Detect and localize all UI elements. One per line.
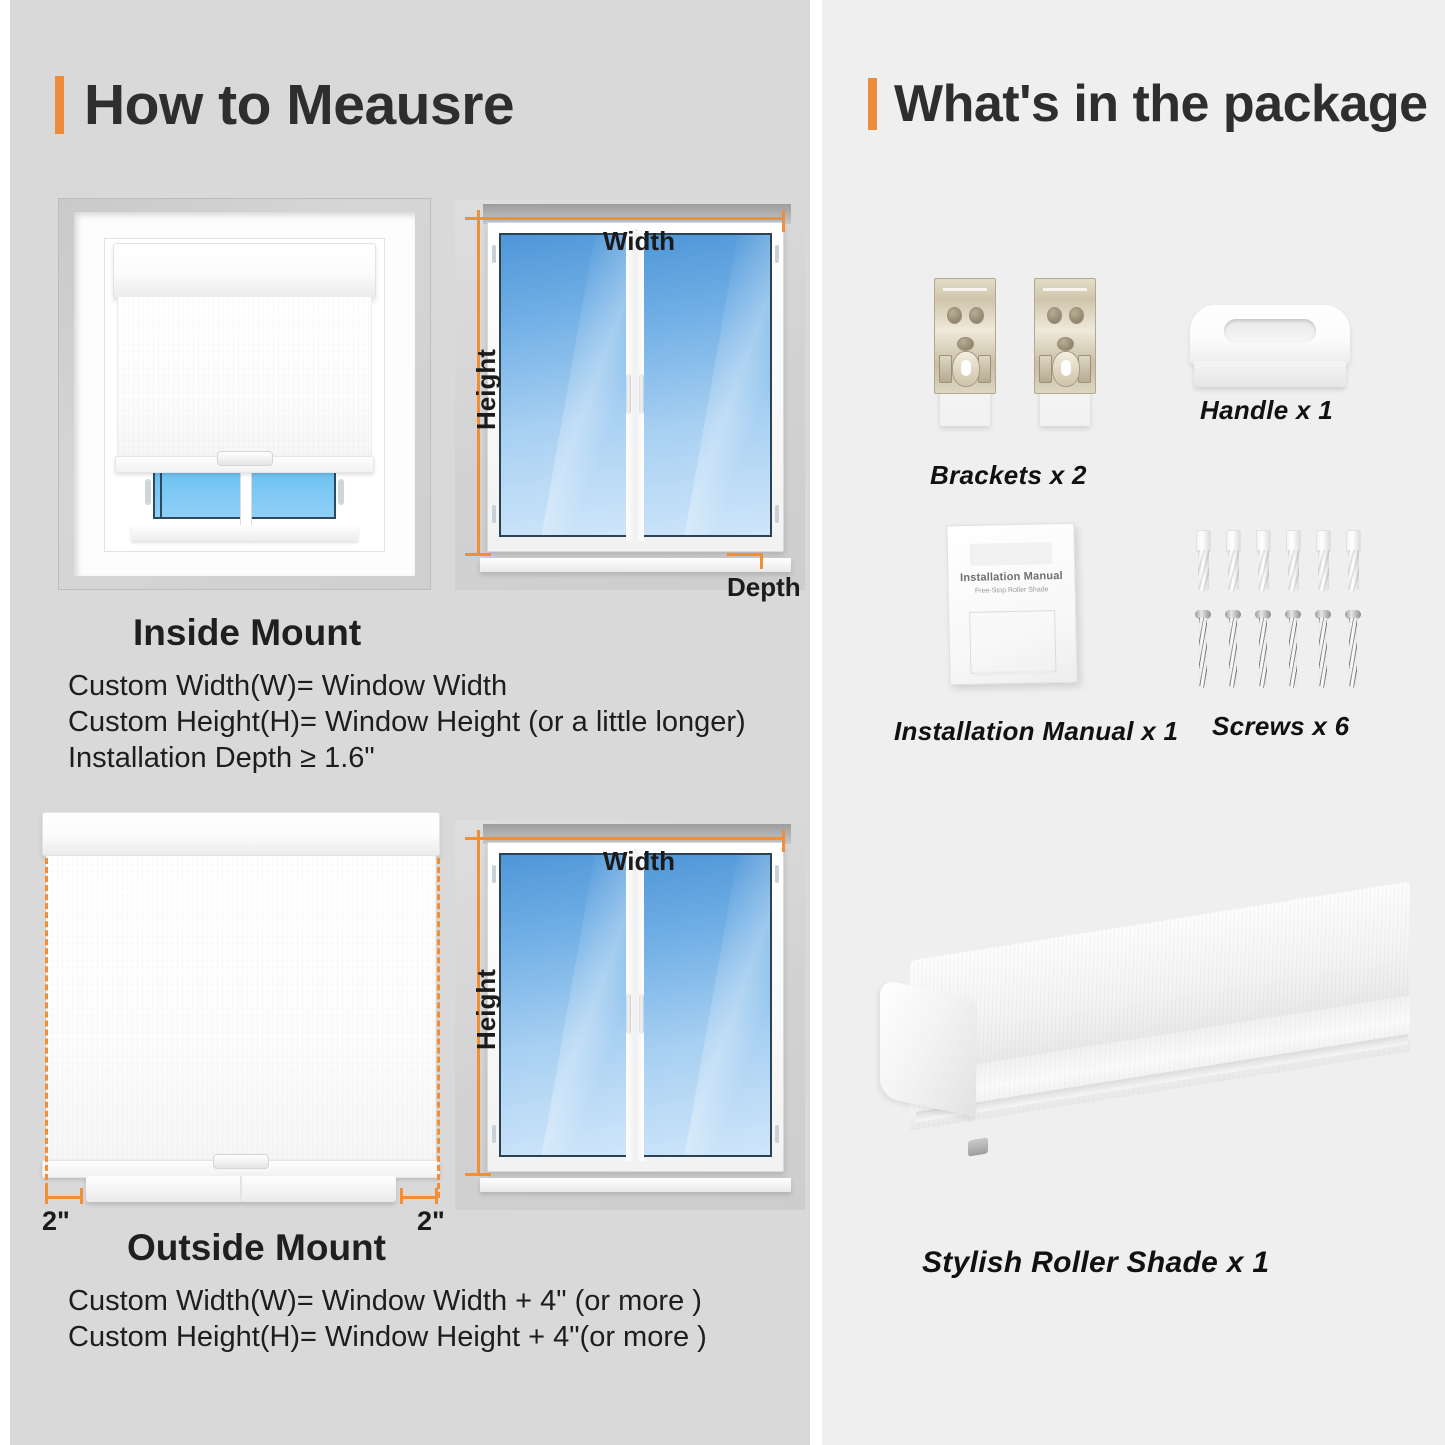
manual-cover-footer bbox=[974, 670, 1052, 676]
window-handle-right-icon bbox=[338, 479, 344, 505]
overhang-arrow-left bbox=[45, 1196, 83, 1199]
shade-bottom-rail bbox=[115, 456, 374, 473]
window-reveal bbox=[74, 212, 415, 576]
page-title-whats-in-package: What's in the package bbox=[868, 74, 1428, 134]
shade-cassette bbox=[113, 243, 376, 299]
wall-anchor-2-head bbox=[1226, 530, 1241, 552]
diagram2-glass-right bbox=[641, 853, 772, 1157]
outside-shade-fabric bbox=[46, 856, 436, 1166]
outside-shade-cassette bbox=[42, 812, 440, 856]
manual-cover-figure bbox=[969, 610, 1056, 674]
overhang-guide-right bbox=[437, 858, 440, 1198]
diagram2-header-lintel bbox=[483, 824, 791, 844]
brackets-label: Brackets x 2 bbox=[930, 460, 1087, 491]
diagram2-hinge-top-left-icon bbox=[492, 865, 496, 883]
overhang-label-right: 2" bbox=[417, 1206, 445, 1237]
height-measure-cap-top bbox=[465, 217, 491, 220]
bracket-1-slot-left bbox=[939, 355, 952, 383]
inside-mount-line-3: Installation Depth ≥ 1.6" bbox=[68, 742, 375, 775]
manual-cover-subtitle: Free-Stop Roller Shade bbox=[949, 586, 1075, 596]
screw-6-shaft bbox=[1349, 618, 1357, 688]
infographic-page: How to Meausre bbox=[0, 0, 1445, 1445]
screw-1 bbox=[1195, 610, 1211, 688]
bracket-2-hole-b bbox=[1069, 307, 1084, 324]
wall-anchor-1-body bbox=[1198, 550, 1209, 592]
bracket-1-pin-oval bbox=[952, 351, 980, 387]
outside-mount-shade-illustration bbox=[42, 812, 440, 1204]
manual-cover-title: Installation Manual bbox=[948, 570, 1074, 585]
installation-manual-label: Installation Manual x 1 bbox=[894, 716, 1178, 747]
left-edge-strip bbox=[0, 0, 10, 1445]
overhang-cap-right-inner bbox=[400, 1188, 403, 1204]
height2-measure-cap-top bbox=[465, 837, 491, 840]
overhang-guide-left bbox=[45, 858, 48, 1198]
height-measure-cap-bottom bbox=[465, 553, 491, 556]
width-measure-line bbox=[477, 217, 785, 220]
how-to-measure-panel: How to Meausre bbox=[0, 0, 810, 1445]
diagram-hinge-bottom-right-icon bbox=[775, 505, 779, 523]
wall-anchor-6 bbox=[1344, 530, 1363, 592]
bracket-1-hole-a bbox=[947, 307, 962, 324]
screw-2 bbox=[1225, 610, 1241, 688]
roller-shade-end-pin bbox=[968, 1137, 988, 1156]
window-frame bbox=[104, 238, 385, 552]
screw-5 bbox=[1315, 610, 1331, 688]
outside-mount-title: Outside Mount bbox=[127, 1227, 386, 1269]
manual-header-band bbox=[970, 542, 1052, 566]
handle-foot bbox=[1194, 361, 1346, 387]
depth-measure-cap bbox=[727, 553, 763, 556]
wall-anchor-5 bbox=[1314, 530, 1333, 592]
roller-shade-tube bbox=[880, 895, 1400, 1195]
width2-measure-cap-right bbox=[782, 830, 785, 852]
diagram2-sill bbox=[480, 1178, 792, 1192]
screw-5-shaft bbox=[1319, 618, 1327, 688]
roller-shade-end-cap bbox=[880, 979, 976, 1117]
overhang-cap-right-outer bbox=[435, 1188, 438, 1204]
accent-bar-icon bbox=[55, 76, 64, 134]
outside-shade-pull-handle-icon bbox=[213, 1154, 269, 1169]
wall-anchor-6-body bbox=[1348, 550, 1359, 592]
wall-anchor-4-body bbox=[1288, 550, 1299, 592]
screw-4 bbox=[1285, 610, 1301, 688]
handle-grip-slot bbox=[1224, 319, 1316, 343]
roller-shade-label: Stylish Roller Shade x 1 bbox=[922, 1246, 1269, 1280]
bracket-2-pin-oval bbox=[1052, 351, 1080, 387]
overhang-label-left: 2" bbox=[42, 1206, 70, 1237]
diagram-sill bbox=[480, 558, 792, 572]
overhang-arrow-right bbox=[400, 1196, 438, 1199]
screws-label: Screws x 6 bbox=[1212, 711, 1349, 742]
outside-mount-measure-diagram: Width Height bbox=[455, 820, 805, 1210]
screw-4-shaft bbox=[1289, 618, 1297, 688]
shade-fabric bbox=[117, 297, 372, 459]
heading-text-right: What's in the package bbox=[894, 74, 1428, 134]
wall-anchor-4-head bbox=[1286, 530, 1301, 552]
outside-mount-line-2: Custom Height(H)= Window Height + 4"(or … bbox=[68, 1321, 707, 1354]
wall-anchor-4 bbox=[1284, 530, 1303, 592]
diagram2-glass-left bbox=[499, 853, 630, 1157]
diagram-hinge-top-left-icon bbox=[492, 245, 496, 263]
bracket-2-metal-body bbox=[1034, 278, 1096, 394]
heading-text: How to Meausre bbox=[84, 72, 514, 138]
width2-measure-line bbox=[477, 837, 785, 840]
window-handle-left-icon bbox=[145, 479, 151, 505]
page-title-how-to-measure: How to Meausre bbox=[55, 72, 514, 138]
diagram-window-frame bbox=[487, 222, 785, 552]
handle-body bbox=[1190, 305, 1350, 365]
bracket-item-1 bbox=[934, 278, 996, 426]
height2-measure-cap-bottom bbox=[465, 1173, 491, 1176]
bracket-1-hole-c bbox=[957, 337, 974, 351]
shade-pull-handle-icon bbox=[217, 451, 273, 466]
inside-mount-measure-diagram: Width Height Depth bbox=[455, 200, 805, 590]
width-label: Width bbox=[603, 226, 675, 257]
inside-mount-shade-illustration bbox=[58, 198, 431, 590]
wall-anchor-2-body bbox=[1228, 550, 1239, 592]
width2-label: Width bbox=[603, 846, 675, 877]
bracket-2-hole-c bbox=[1057, 337, 1074, 351]
diagram-hinge-bottom-left-icon bbox=[492, 505, 496, 523]
inside-mount-title: Inside Mount bbox=[133, 612, 361, 654]
outside-sill-divider bbox=[240, 1176, 242, 1202]
wall-anchor-1 bbox=[1194, 530, 1213, 592]
package-contents-panel: What's in the package bbox=[822, 0, 1445, 1445]
diagram2-hinge-bottom-left-icon bbox=[492, 1125, 496, 1143]
diagram2-hinge-top-right-icon bbox=[775, 865, 779, 883]
height2-label: Height bbox=[471, 969, 502, 1050]
handle-item bbox=[1190, 305, 1350, 389]
handle-label: Handle x 1 bbox=[1200, 395, 1333, 426]
installation-manual-item: Installation Manual Free-Stop Roller Sha… bbox=[946, 523, 1077, 686]
window-sill bbox=[131, 525, 358, 541]
diagram-glass-right bbox=[641, 233, 772, 537]
accent-bar-icon-right bbox=[868, 78, 877, 130]
wall-anchor-6-head bbox=[1346, 530, 1361, 552]
screw-3-shaft bbox=[1259, 618, 1267, 688]
screw-3 bbox=[1255, 610, 1271, 688]
width-measure-cap-right bbox=[782, 210, 785, 232]
bracket-2-slot-left bbox=[1039, 355, 1052, 383]
wall-anchor-5-body bbox=[1318, 550, 1329, 592]
height-label: Height bbox=[471, 349, 502, 430]
bracket-1-metal-body bbox=[934, 278, 996, 394]
diagram-window-handles-icon bbox=[624, 374, 646, 418]
overhang-cap-left-outer bbox=[45, 1188, 48, 1204]
diagram-hinge-top-right-icon bbox=[775, 245, 779, 263]
panel-divider bbox=[810, 0, 822, 1445]
wall-anchor-3-body bbox=[1258, 550, 1269, 592]
screw-6 bbox=[1345, 610, 1361, 688]
screw-1-shaft bbox=[1199, 618, 1207, 688]
wall-anchor-3 bbox=[1254, 530, 1273, 592]
diagram-header-lintel bbox=[483, 204, 791, 224]
wall-anchor-5-head bbox=[1316, 530, 1331, 552]
wall-anchor-3-head bbox=[1256, 530, 1271, 552]
roller-shade-product-photo bbox=[880, 895, 1400, 1215]
inside-mount-line-1: Custom Width(W)= Window Width bbox=[68, 670, 507, 703]
depth-label: Depth bbox=[727, 572, 801, 603]
outside-mount-line-1: Custom Width(W)= Window Width + 4" (or m… bbox=[68, 1285, 702, 1318]
bracket-item-2 bbox=[1034, 278, 1096, 426]
wall-anchor-2 bbox=[1224, 530, 1243, 592]
wall-anchor-1-head bbox=[1196, 530, 1211, 552]
overhang-cap-left-inner bbox=[80, 1188, 83, 1204]
depth-measure-line bbox=[760, 553, 763, 569]
diagram-glass-left bbox=[499, 233, 630, 537]
diagram2-window-frame bbox=[487, 842, 785, 1172]
diagram2-window-handles-icon bbox=[624, 994, 646, 1038]
bracket-2-hole-a bbox=[1047, 307, 1062, 324]
screw-2-shaft bbox=[1229, 618, 1237, 688]
inside-mount-line-2: Custom Height(H)= Window Height (or a li… bbox=[68, 706, 746, 739]
diagram2-hinge-bottom-right-icon bbox=[775, 1125, 779, 1143]
bracket-1-hole-b bbox=[969, 307, 984, 324]
